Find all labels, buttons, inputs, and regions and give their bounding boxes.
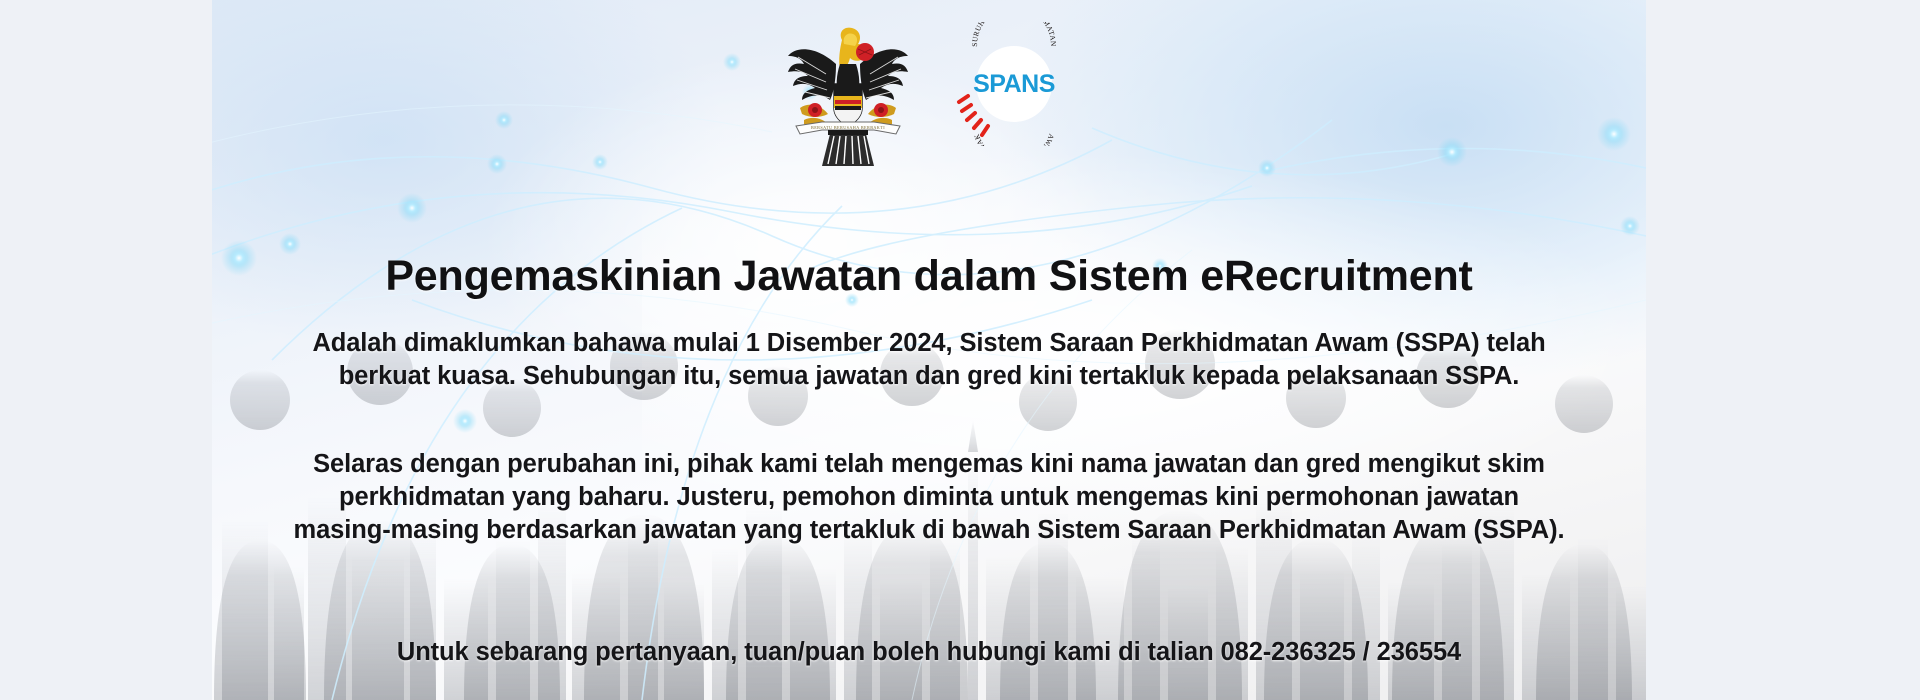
logo-row: BERSATU BERUSAHA BERBAKTI — [212, 22, 1646, 170]
announcement-paragraph-1: Adalah dimaklumkan bahawa mulai 1 Disemb… — [212, 327, 1646, 393]
svg-text:SURUHANJAYA PERKHIDMATAN: SURUHANJAYA PERKHIDMATAN — [970, 22, 1058, 47]
paragraph-1-line-2: berkuat kuasa. Sehubungan itu, semua jaw… — [212, 360, 1646, 393]
contact-text: Untuk sebarang pertanyaan, tuan/puan bol… — [212, 636, 1646, 669]
svg-text:BERSATU BERUSAHA BERBAKTI: BERSATU BERUSAHA BERBAKTI — [811, 125, 885, 130]
paragraph-1-line-1: Adalah dimaklumkan bahawa mulai 1 Disemb… — [212, 327, 1646, 360]
svg-text:SPANS: SPANS — [973, 70, 1055, 98]
paragraph-2-line-1: Selaras dengan perubahan ini, pihak kami… — [212, 448, 1646, 481]
announcement-paragraph-2: Selaras dengan perubahan ini, pihak kami… — [212, 448, 1646, 547]
spans-logo-icon: SURUHANJAYA PERKHIDMATAN AWAM NEGERI SAR… — [952, 22, 1076, 146]
paragraph-2-line-3: masing-masing berdasarkan jawatan yang t… — [212, 514, 1646, 547]
page-root: BERSATU BERUSAHA BERBAKTI — [0, 0, 1920, 700]
paragraph-2-line-2: perkhidmatan yang baharu. Justeru, pemoh… — [212, 481, 1646, 514]
page-title: Pengemaskinian Jawatan dalam Sistem eRec… — [212, 253, 1646, 299]
banner-content: BERSATU BERUSAHA BERBAKTI — [212, 0, 1646, 700]
announcement-banner: BERSATU BERUSAHA BERBAKTI — [212, 0, 1646, 700]
sarawak-coat-of-arms-icon: BERSATU BERUSAHA BERBAKTI — [782, 22, 914, 168]
contact-line: Untuk sebarang pertanyaan, tuan/puan bol… — [212, 636, 1646, 669]
